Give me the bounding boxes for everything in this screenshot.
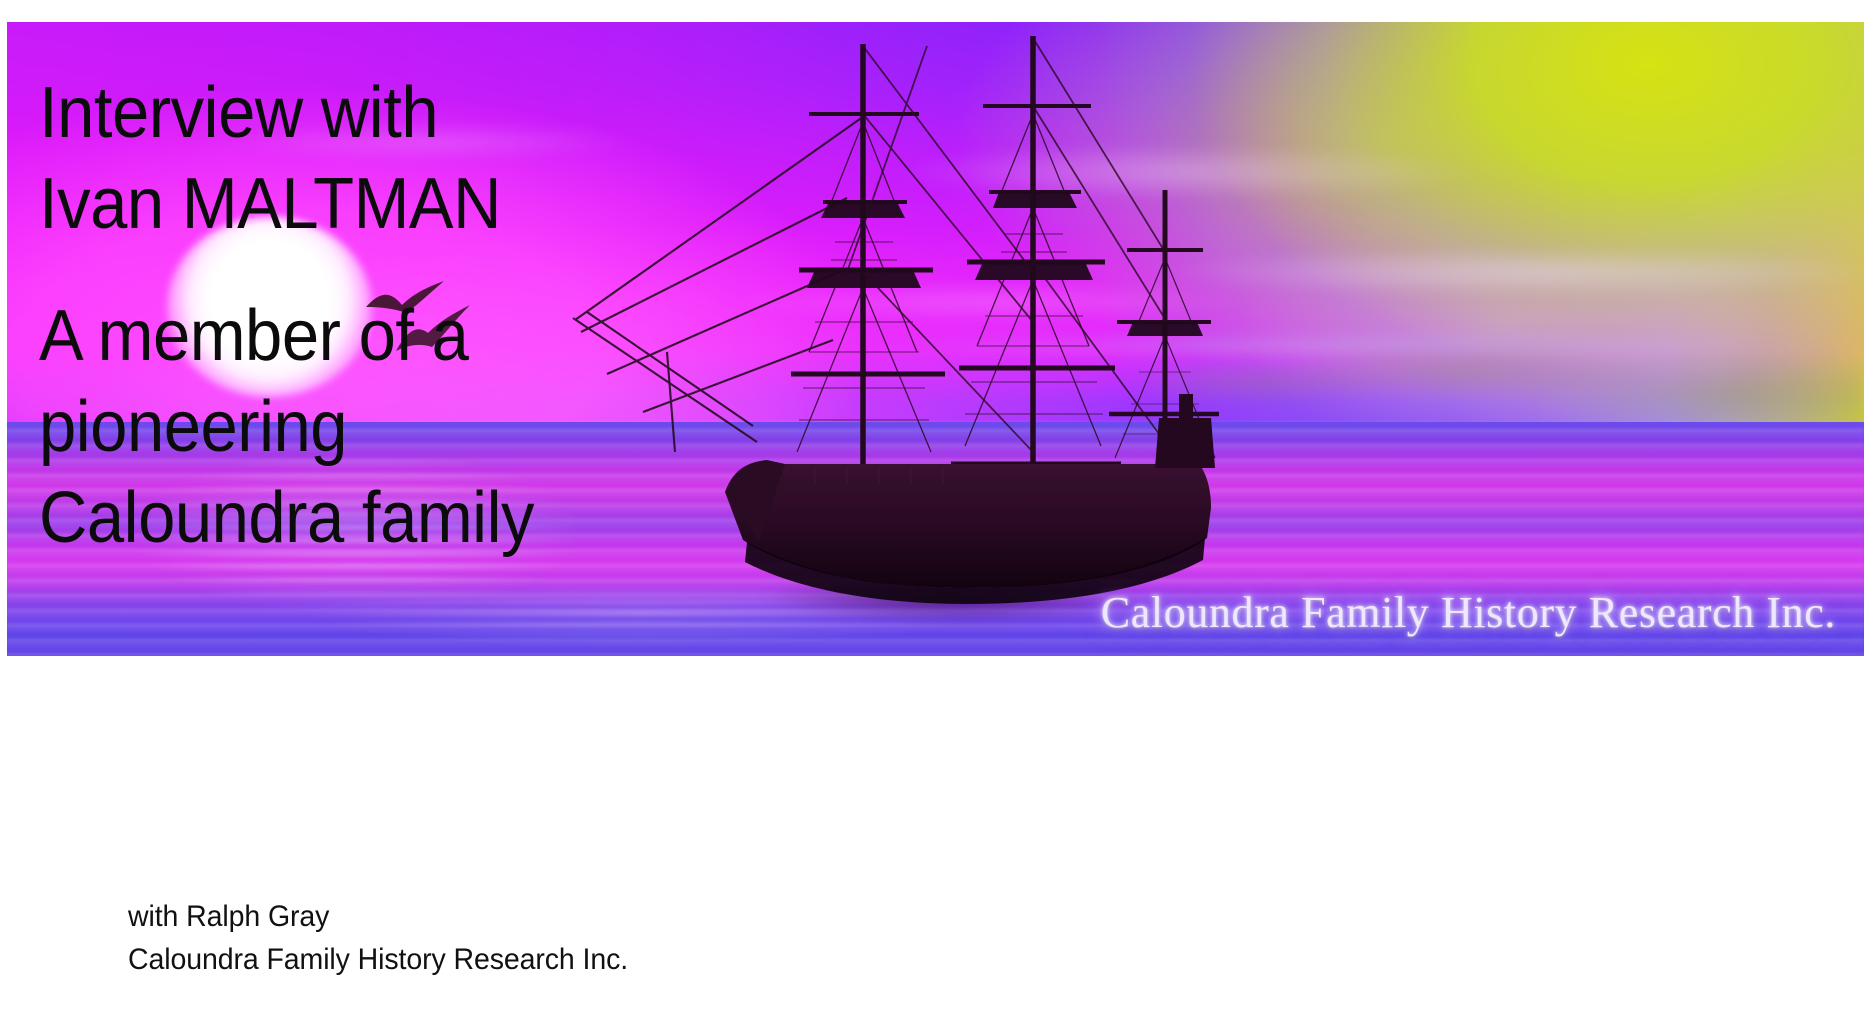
presenter-credit: with Ralph Gray Caloundra Family History…	[128, 896, 628, 981]
presenter-organisation: Caloundra Family History Research Inc.	[128, 939, 628, 982]
subtitle-line-1: A member of a	[39, 291, 653, 382]
title-line-2: Ivan MALTMAN	[39, 159, 653, 250]
title-spacer	[39, 249, 653, 291]
slide-canvas: Caloundra Family History Research Inc. I…	[0, 0, 1864, 1026]
title-line-1: Interview with	[39, 68, 653, 159]
banner-watermark: Caloundra Family History Research Inc.	[1101, 587, 1836, 638]
banner-image: Caloundra Family History Research Inc. I…	[7, 22, 1864, 656]
presenter-name: with Ralph Gray	[128, 896, 628, 939]
subtitle-line-2: pioneering	[39, 382, 653, 473]
page-title: Interview with Ivan MALTMAN A member of …	[39, 68, 653, 564]
subtitle-line-3: Caloundra family	[39, 473, 653, 564]
